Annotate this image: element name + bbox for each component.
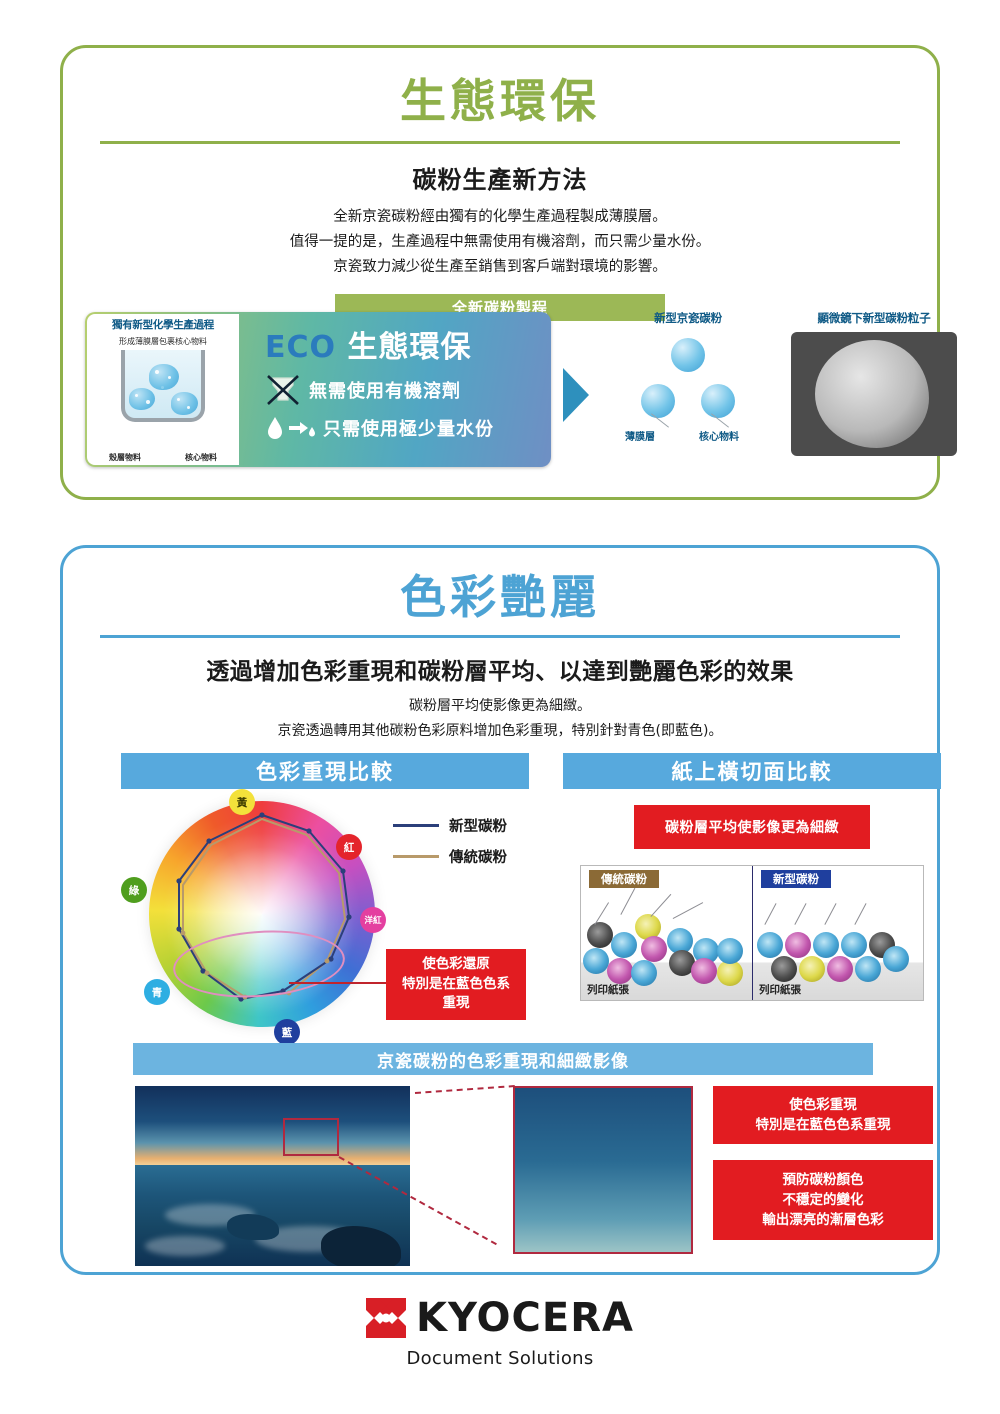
- film-layer-label: 薄膜層: [625, 428, 655, 443]
- benefit-box-2-line-1: 預防碳粉顏色: [783, 1170, 864, 1190]
- eco-word-label: 生態環保: [347, 330, 471, 365]
- benefit-box-1-line-1: 使色彩重現: [789, 1095, 857, 1115]
- eco-body-line-3: 京瓷致力減少從生產至銷售到客戶端對環境的影響。: [63, 255, 937, 280]
- eco-benefit-2: 只需使用極少量水份: [265, 414, 551, 442]
- water-drop-icon: [265, 414, 317, 442]
- hub-green: 綠: [121, 877, 147, 903]
- color-gamut-header: 色彩重現比較: [121, 753, 529, 789]
- toner-spheres-illustration: 薄膜層 核心物料: [603, 332, 773, 442]
- toner-sphere: [671, 338, 705, 372]
- gamut-legend: 新型碳粉 傳統碳粉: [393, 815, 507, 877]
- eco-section: 生態環保 碳粉生產新方法 全新京瓷碳粉經由獨有的化學生產過程製成薄膜層。 值得一…: [60, 45, 940, 500]
- no-organic-solvent-icon: [265, 374, 301, 406]
- hub-cyan: 青: [144, 979, 170, 1005]
- legend-label-old-toner: 傳統碳粉: [449, 846, 507, 867]
- color-divider: [100, 635, 900, 638]
- core-material-label: 核心物料: [699, 428, 739, 443]
- cross-section-chart: 碳粉層平均使影像更為細緻 傳統碳粉: [563, 805, 941, 1060]
- cross-section-banner: 碳粉層平均使影像更為細緻: [634, 805, 870, 849]
- eco-chemistry-title: 獨有新型化學生產過程: [87, 317, 239, 332]
- benefit-box-1-line-2: 特別是在藍色色系重現: [756, 1115, 891, 1135]
- legend-label-new-toner: 新型碳粉: [449, 815, 507, 836]
- gamut-callout-line-1: 使色彩還原: [422, 955, 490, 975]
- sample-photo: [135, 1086, 410, 1266]
- cross-section-panel: 紙上橫切面比較 碳粉層平均使影像更為細緻 傳統碳粉: [563, 753, 941, 1060]
- benefit-box-gradation: 預防碳粉顏色 不穩定的變化 輸出漂亮的漸層色彩: [713, 1160, 933, 1240]
- color-body-line-2: 京瓷透過轉用其他碳粉色彩原料增加色彩重現，特別針對青色(即藍色)。: [63, 719, 937, 744]
- zoomed-gradient-sample: [513, 1086, 693, 1254]
- sem-micrograph: [791, 332, 957, 456]
- hub-blue: 藍: [274, 1019, 300, 1045]
- foot-print-paper-new: 列印紙張: [759, 982, 801, 997]
- kyocera-mark-icon: [366, 1298, 406, 1338]
- benefit-box-2-line-2: 不穩定的變化: [783, 1190, 864, 1210]
- eco-card-text: ECO 生態環保 無需使用有機溶劑: [241, 312, 551, 467]
- gamut-callout: 使色彩還原 特別是在藍色色系 重現: [386, 949, 526, 1020]
- cross-section-header: 紙上橫切面比較: [563, 753, 941, 789]
- eco-shell-label: 殼層物料: [109, 452, 141, 463]
- eco-benefit-1: 無需使用有機溶劑: [265, 374, 551, 406]
- flow-arrow-icon: [563, 368, 589, 422]
- kyocera-tagline: Document Solutions: [0, 1348, 1000, 1369]
- color-section: 色彩艷麗 透過增加色彩重現和碳粉層平均、以達到艷麗色彩的效果 碳粉層平均使影像更…: [60, 545, 940, 1275]
- tag-new-toner: 新型碳粉: [761, 870, 831, 888]
- eco-chemistry-footnotes: 殼層物料 核心物料: [87, 452, 239, 463]
- eco-new-toner-group: 新型京瓷碳粉 薄膜層 核心物料: [603, 310, 773, 442]
- eco-sem-caption: 顯微鏡下新型碳粉粒子: [779, 310, 969, 326]
- eco-word: ECO: [265, 330, 336, 365]
- photo-sky: [135, 1086, 410, 1165]
- hub-red: 紅: [336, 834, 362, 860]
- eco-core-label: 核心物料: [185, 452, 217, 463]
- color-body: 碳粉層平均使影像更為細緻。 京瓷透過轉用其他碳粉色彩原料增加色彩重現，特別針對青…: [63, 694, 937, 744]
- eco-diagram: 獨有新型化學生產過程 形成薄膜層包裹核心物料 殼層物料: [63, 310, 937, 488]
- cross-section-old: 傳統碳粉: [581, 866, 752, 1000]
- eco-divider: [100, 141, 900, 144]
- foot-print-paper-old: 列印紙張: [587, 982, 629, 997]
- legend-item-old-toner: 傳統碳粉: [393, 846, 507, 867]
- eco-benefit-1-label: 無需使用有機溶劑: [309, 377, 461, 403]
- eco-sem-group: 顯微鏡下新型碳粉粒子: [779, 310, 969, 456]
- toner-sphere: [641, 384, 675, 418]
- photo-selection-box: [283, 1118, 339, 1156]
- sem-particle: [815, 340, 929, 448]
- zoom-connector-top: [415, 1085, 515, 1094]
- eco-title: 生態環保: [63, 76, 937, 127]
- gamut-callout-line-3: 重現: [443, 994, 470, 1014]
- color-subtitle: 透過增加色彩重現和碳粉層平均、以達到艷麗色彩的效果: [63, 652, 937, 686]
- legend-swatch-old-toner: [393, 855, 439, 858]
- eco-body-line-2: 值得一提的是，生產過程中無需使用有機溶劑，而只需少量水份。: [63, 230, 937, 255]
- bottom-banner: 京瓷碳粉的色彩重現和細緻影像: [133, 1043, 873, 1075]
- toner-sphere: [701, 384, 735, 418]
- eco-benefit-2-label: 只需使用極少量水份: [323, 415, 494, 441]
- kyocera-logo: KYOCERA: [366, 1295, 634, 1341]
- eco-gradient-card: 獨有新型化學生產過程 形成薄膜層包裹核心物料 殼層物料: [85, 312, 551, 467]
- hub-yellow: 黃: [229, 789, 255, 815]
- legend-swatch-new-toner: [393, 824, 439, 827]
- tag-traditional-toner: 傳統碳粉: [589, 870, 659, 888]
- color-title: 色彩艷麗: [63, 572, 937, 623]
- beaker-icon: [113, 346, 213, 428]
- color-gamut-panel: 色彩重現比較: [121, 753, 529, 1044]
- cross-section-comparison: 傳統碳粉: [580, 865, 924, 1001]
- eco-new-toner-caption: 新型京瓷碳粉: [603, 310, 773, 326]
- benefit-box-color-reproduction: 使色彩重現 特別是在藍色色系重現: [713, 1086, 933, 1144]
- kyocera-wordmark: KYOCERA: [416, 1295, 634, 1341]
- eco-subtitle: 碳粉生產新方法: [63, 160, 937, 195]
- legend-item-new-toner: 新型碳粉: [393, 815, 507, 836]
- color-body-line-1: 碳粉層平均使影像更為細緻。: [63, 694, 937, 719]
- eco-headline: ECO 生態環保: [265, 322, 551, 366]
- eco-chemistry-illustration: 獨有新型化學生產過程 形成薄膜層包裹核心物料 殼層物料: [87, 314, 239, 465]
- callout-connector: [289, 982, 389, 984]
- eco-body: 全新京瓷碳粉經由獨有的化學生產過程製成薄膜層。 值得一提的是，生產過程中無需使用…: [63, 205, 937, 281]
- eco-body-line-1: 全新京瓷碳粉經由獨有的化學生產過程製成薄膜層。: [63, 205, 937, 230]
- benefit-box-2-line-3: 輸出漂亮的漸層色彩: [762, 1210, 884, 1230]
- hub-magenta: 洋紅: [360, 907, 386, 933]
- cross-section-new: 新型碳粉 列印紙張: [752, 866, 923, 1000]
- color-gamut-chart: 黃 紅 洋紅 藍 青 綠 新型碳粉 傳統碳粉 使色彩還原 特別是在藍色色系: [121, 789, 529, 1044]
- brand-footer: KYOCERA Document Solutions: [0, 1295, 1000, 1369]
- gamut-callout-line-2: 特別是在藍色色系: [402, 975, 510, 995]
